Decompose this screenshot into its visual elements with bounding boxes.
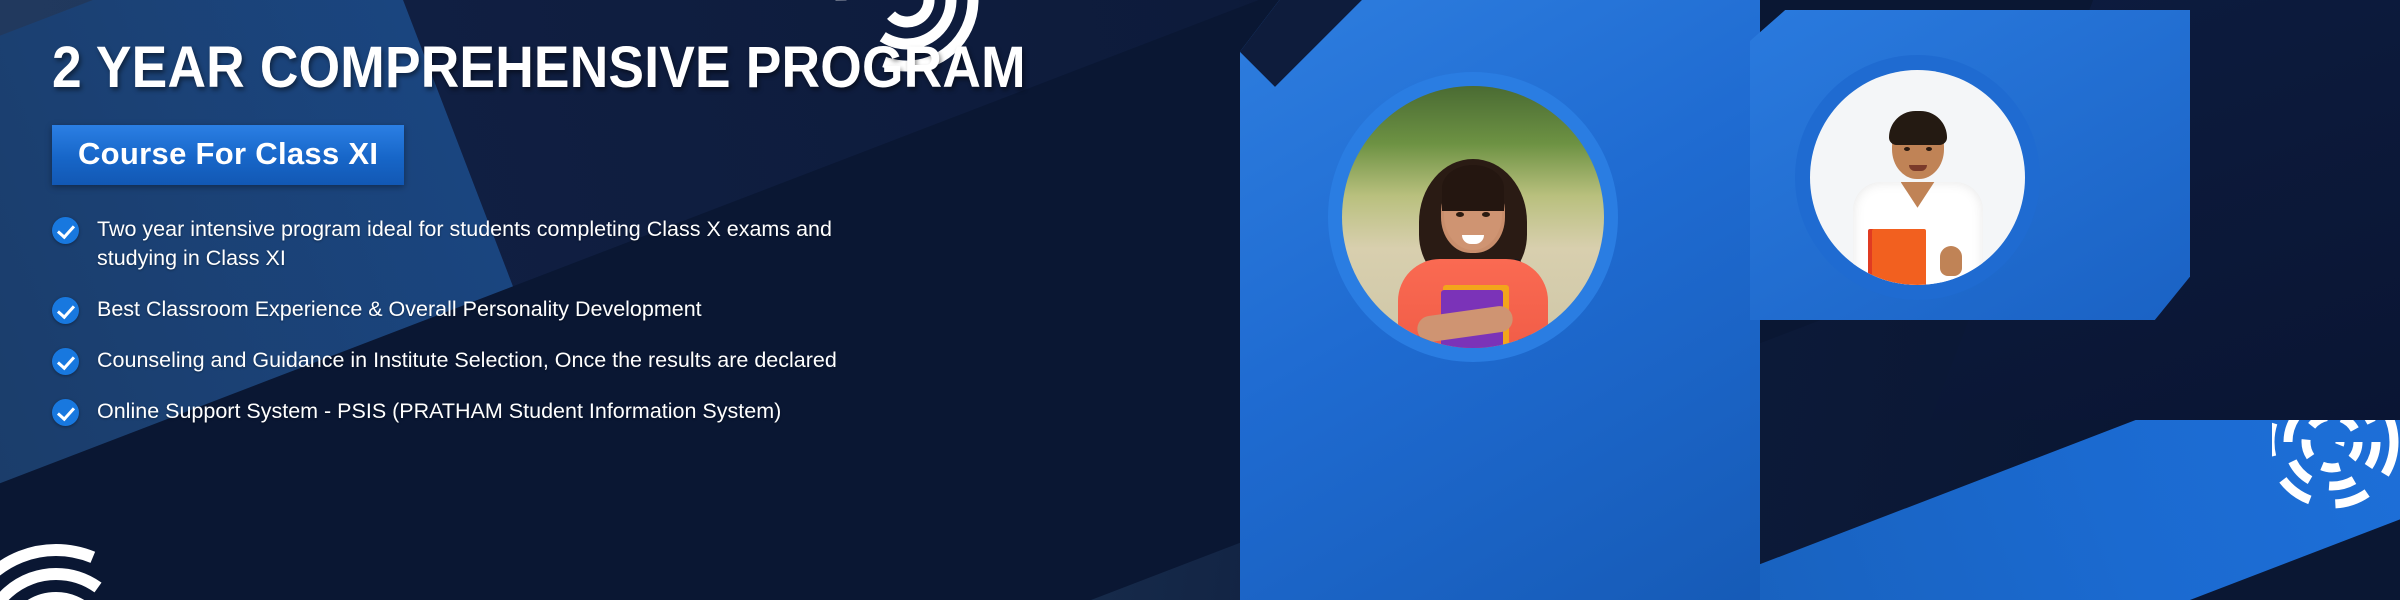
- list-item: Best Classroom Experience & Overall Pers…: [52, 295, 1212, 324]
- check-circle-icon: [52, 348, 79, 375]
- avatar-eye-right: [1482, 212, 1490, 217]
- concentric-arcs-icon: [0, 528, 154, 600]
- page-title: 2 YEAR COMPREHENSIVE PROGRAM: [52, 38, 1119, 99]
- promo-banner: 2 YEAR COMPREHENSIVE PROGRAM Course For …: [0, 0, 2400, 600]
- list-item: Counseling and Guidance in Institute Sel…: [52, 346, 1212, 375]
- avatar-smile: [1909, 165, 1927, 171]
- list-item-label: Counseling and Guidance in Institute Sel…: [97, 346, 837, 375]
- avatar-eye-left: [1456, 212, 1464, 217]
- avatar-book-orange: [1872, 229, 1926, 285]
- check-circle-icon: [52, 297, 79, 324]
- list-item-label: Two year intensive program ideal for stu…: [97, 215, 832, 273]
- list-item-label: Best Classroom Experience & Overall Pers…: [97, 295, 702, 324]
- student-male-photo: [1810, 70, 2025, 285]
- check-circle-icon: [52, 217, 79, 244]
- student-female-photo: [1342, 86, 1604, 348]
- list-item-label: Online Support System - PSIS (PRATHAM St…: [97, 397, 781, 426]
- banner-content: 2 YEAR COMPREHENSIVE PROGRAM Course For …: [52, 26, 1212, 426]
- list-item: Online Support System - PSIS (PRATHAM St…: [52, 397, 1212, 426]
- avatar-hair-top: [1442, 165, 1504, 211]
- photo-panel: [1230, 0, 2400, 600]
- check-circle-icon: [52, 399, 79, 426]
- course-badge: Course For Class XI: [52, 125, 404, 185]
- list-item: Two year intensive program ideal for stu…: [52, 215, 1212, 273]
- feature-list: Two year intensive program ideal for stu…: [52, 215, 1212, 426]
- avatar-thumbs-up: [1940, 246, 1962, 276]
- avatar-hair: [1889, 111, 1947, 145]
